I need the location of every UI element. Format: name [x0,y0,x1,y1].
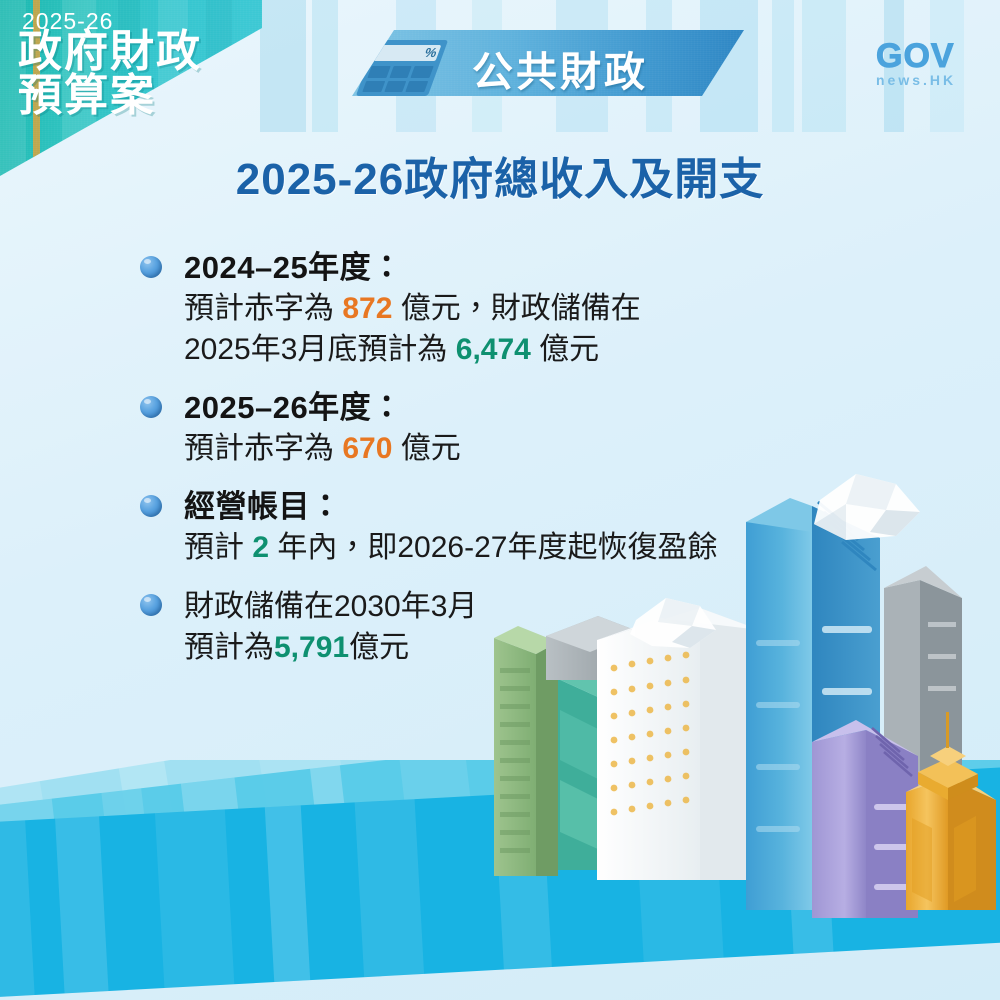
bullet-text: 預計赤字為 [184,292,342,325]
highlight-figure-green: 6,474 [456,333,531,366]
bullet-line: 預計赤字為 872 億元，財政儲備在 [184,288,900,329]
highlight-figure-orange: 872 [342,292,392,325]
bullet-sphere-icon [140,396,162,418]
purple-tower [812,720,918,918]
page-title: 2025-26政府總收入及開支 [0,143,1000,207]
govnews-logo[interactable]: GOV news.HK [876,40,986,88]
low-poly-cloud-large [814,474,920,540]
bullet-text: 億元，財政儲備在 [392,292,640,325]
corner-title-line-2: 預算案 [18,74,202,118]
infographic-canvas: 2025-26 政府財政 預算案 % 公共財政 GOV news.HK 2025… [0,0,1000,1000]
corner-title-line-1: 政府財政 [18,30,202,74]
logo-sub-text: news.HK [876,73,986,87]
logo-main-text: GOV [876,40,986,72]
bullet-sphere-icon [140,256,162,278]
bullet-heading: 2025–26年度： [184,388,900,428]
white-dotted-tower [597,608,760,880]
bullet-line: 2025年3月底預計為 6,474 億元 [184,329,900,370]
hong-kong-skyline-illustration [0,440,1000,1000]
bullet-item: 2024–25年度：預計赤字為 872 億元，財政儲備在2025年3月底預計為 … [140,248,900,370]
corner-title: 政府財政 預算案 [18,30,202,118]
bullet-heading: 2024–25年度： [184,248,900,288]
bullet-text: 2025年3月底預計為 [184,333,456,366]
banner-label: 公共財政 [472,38,648,96]
bullet-text: 億元 [531,333,599,366]
section-banner: % 公共財政 [352,30,744,96]
